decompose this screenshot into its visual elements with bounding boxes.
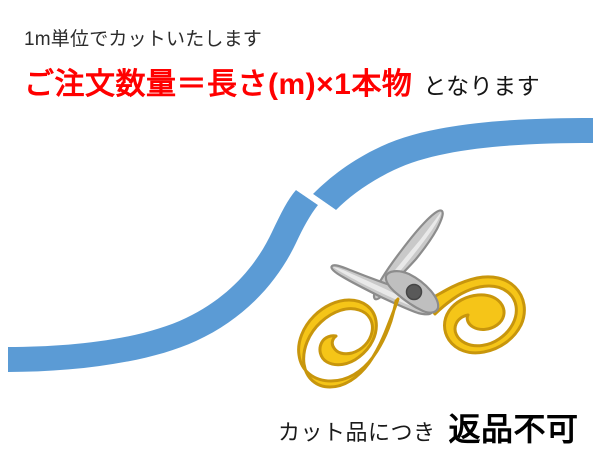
notice-line-bottom: カット品につき返品不可 [278, 413, 579, 445]
notice-emphasis-tail-text: となります [412, 73, 540, 99]
notice-bottom-big-text: 返品不可 [436, 411, 579, 447]
notice-line-top: 1m単位でカットいたします [24, 30, 262, 49]
notice-bottom-small-text: カット品につき [278, 420, 436, 445]
notice-graphic-root: 1m単位でカットいたします ご注文数量＝長さ(m)×1本物となります カット品に… [0, 0, 600, 466]
notice-emphasis-red-text: ご注文数量＝長さ(m)×1本物 [24, 68, 412, 101]
scissors-pivot-screw [407, 285, 422, 300]
notice-line-emphasis: ご注文数量＝長さ(m)×1本物となります [24, 70, 540, 100]
